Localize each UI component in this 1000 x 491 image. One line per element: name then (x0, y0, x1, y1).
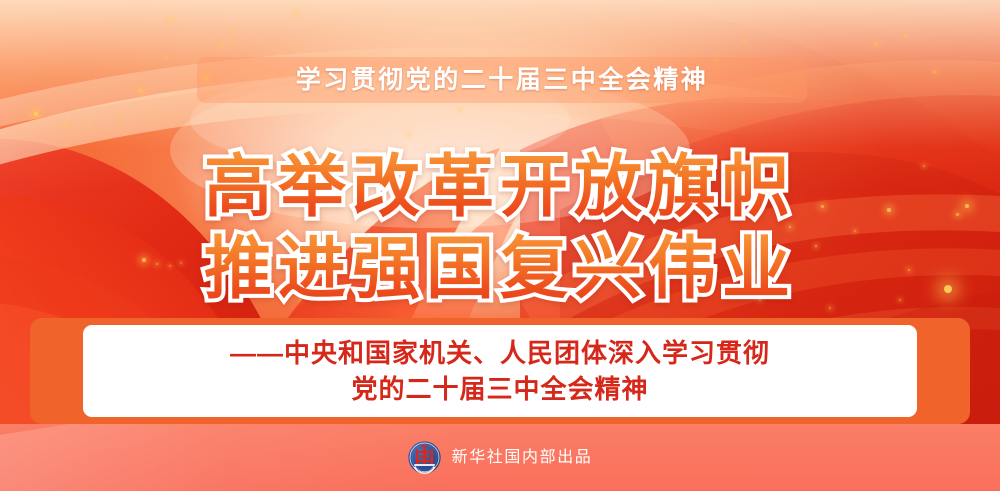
xinhua-news-agency-logo-icon (408, 441, 441, 474)
top-banner-text: 学习贯彻党的二十届三中全会精神 (296, 68, 709, 93)
headline-line-2: 推进强国复兴伟业 (204, 228, 796, 310)
poster-canvas: 学习贯彻党的二十届三中全会精神 高举改革开放旗帜 高举改革开放旗帜 推进强国复兴… (0, 0, 1000, 491)
top-banner: 学习贯彻党的二十届三中全会精神 (197, 57, 807, 103)
subtitle-line-2: 党的二十届三中全会精神 (351, 371, 648, 407)
headline-line-2-wrap: 推进强国复兴伟业 推进强国复兴伟业 (204, 228, 796, 310)
footer-strip: 新华社国内部出品 (0, 424, 1000, 491)
footer-content: 新华社国内部出品 (0, 424, 1000, 491)
footer-text: 新华社国内部出品 (452, 450, 593, 466)
subtitle-card: ——中央和国家机关、人民团体深入学习贯彻 党的二十届三中全会精神 (83, 325, 917, 417)
headline-line-1: 高举改革开放旗帜 (204, 146, 796, 228)
subtitle-line-1: ——中央和国家机关、人民团体深入学习贯彻 (230, 335, 770, 371)
main-headline: 高举改革开放旗帜 高举改革开放旗帜 推进强国复兴伟业 推进强国复兴伟业 (0, 146, 1000, 310)
headline-line-1-wrap: 高举改革开放旗帜 高举改革开放旗帜 (204, 146, 796, 228)
